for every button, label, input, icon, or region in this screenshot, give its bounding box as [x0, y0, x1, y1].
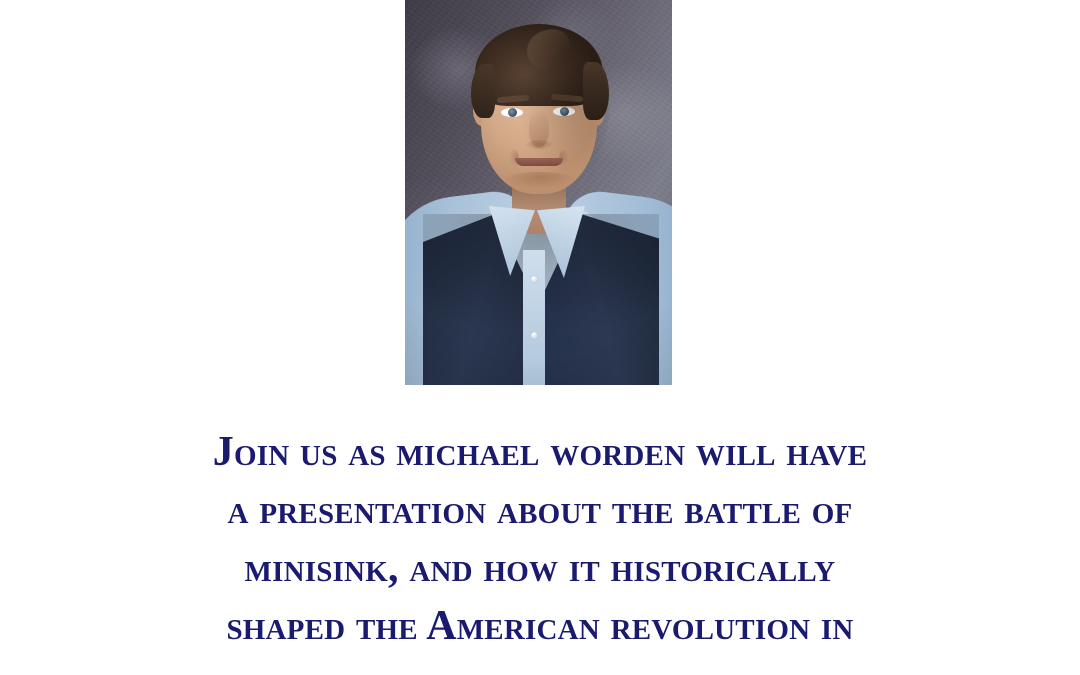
headline-line-2: a presentation about the battle of [0, 481, 1080, 539]
announcement-page: Join us as michael worden will have a pr… [0, 0, 1080, 675]
announcement-headline: Join us as michael worden will have a pr… [0, 423, 1080, 655]
speaker-portrait-image [405, 0, 672, 385]
headline-line-1: Join us as michael worden will have [0, 423, 1080, 481]
portrait-vignette [405, 0, 672, 385]
headline-line-4: shaped the American revolution in [0, 597, 1080, 655]
speaker-portrait [405, 0, 672, 385]
headline-line-3: minisink, and how it historically [0, 539, 1080, 597]
